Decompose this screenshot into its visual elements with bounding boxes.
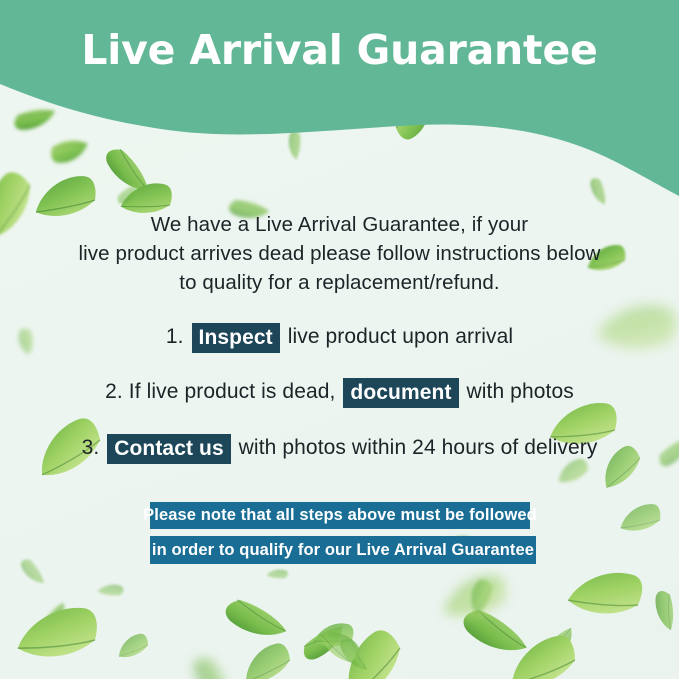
intro-line-3: to quality for a replacement/refund.: [60, 268, 619, 297]
step-1-highlight: Inspect: [192, 323, 280, 353]
intro-paragraph: We have a Live Arrival Guarantee, if you…: [60, 210, 619, 297]
intro-line-2: live product arrives dead please follow …: [60, 239, 619, 268]
step-2-text-after: with photos: [467, 380, 574, 403]
intro-line-1: We have a Live Arrival Guarantee, if you…: [60, 210, 619, 239]
page-title: Live Arrival Guarantee: [0, 28, 679, 73]
step-3-text-after: with photos within 24 hours of delivery: [239, 436, 598, 459]
live-arrival-guarantee-poster: Live Arrival Guarantee We have a Live Ar…: [0, 0, 679, 679]
step-item-3: 3. Contact us with photos within 24 hour…: [0, 433, 679, 463]
step-3-number: 3.: [82, 436, 100, 459]
step-1-number: 1.: [166, 325, 184, 348]
step-item-2: 2. If live product is dead, document wit…: [0, 377, 679, 407]
note-bar-line-2: in order to qualify for our Live Arrival…: [150, 536, 536, 564]
step-2-text-before: If live product is dead,: [129, 380, 336, 403]
step-item-1: 1. Inspect live product upon arrival: [0, 322, 679, 352]
step-2-highlight: document: [343, 378, 458, 408]
step-3-highlight: Contact us: [107, 434, 231, 464]
note-bar-line-1: Please note that all steps above must be…: [150, 502, 530, 529]
step-1-text-after: live product upon arrival: [288, 325, 513, 348]
step-2-number: 2.: [105, 380, 123, 403]
